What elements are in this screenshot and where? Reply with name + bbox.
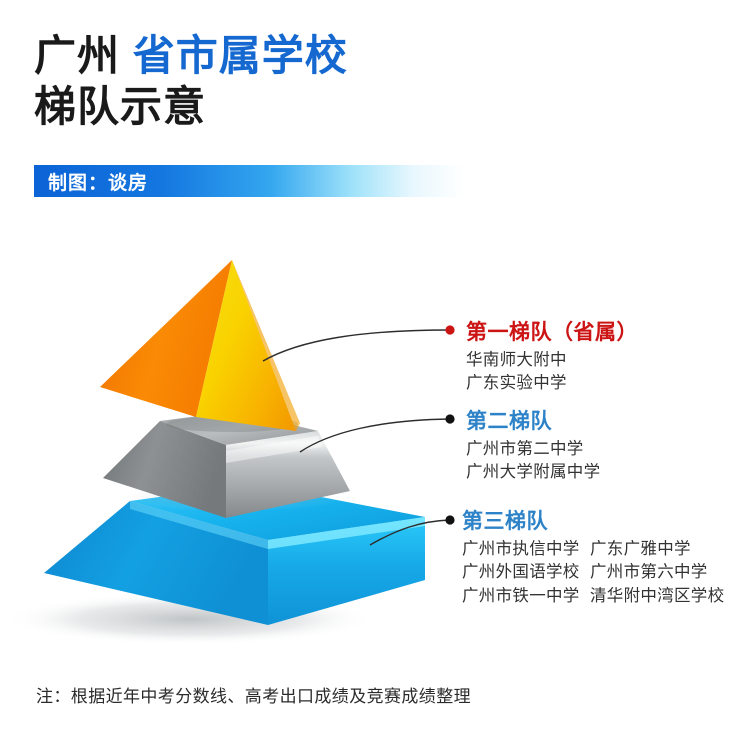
tier-school-3-1-a: 广州外国语学校 xyxy=(462,561,590,584)
tier-school-2-0: 广州市第二中学 xyxy=(466,438,600,461)
tier-heading-2: 第二梯队 xyxy=(466,405,600,435)
tier-school-1-0: 华南师大附中 xyxy=(466,349,638,372)
footnote: 注：根据近年中考分数线、高考出口成绩及竞赛成绩整理 xyxy=(36,682,471,707)
tier-block-1: 第一梯队（省属） 华南师大附中 广东实验中学 xyxy=(466,316,638,396)
tier-school-3-0-a: 广州市执信中学 xyxy=(462,538,590,561)
tier-school-3-2-b: 清华附中湾区学校 xyxy=(590,585,724,608)
credit-text: 制图：谈房 xyxy=(34,168,148,195)
tier-heading-1: 第一梯队（省属） xyxy=(466,316,638,346)
tier-school-row-3-0: 广州市执信中学 广东广雅中学 xyxy=(462,538,724,561)
page-title-highlight: 省市属学校 xyxy=(133,32,348,79)
tier-school-1-1: 广东实验中学 xyxy=(466,372,638,395)
tier-school-3-1-b: 广州市第六中学 xyxy=(590,561,708,584)
page-title-line-2: 梯队示意 xyxy=(34,81,634,132)
tier-heading-3: 第三梯队 xyxy=(462,505,724,535)
tier-school-row-3-2: 广州市铁一中学 清华附中湾区学校 xyxy=(462,585,724,608)
pyramid-graphic xyxy=(0,235,470,655)
tier-school-2-1: 广州大学附属中学 xyxy=(466,461,600,484)
tier-block-3: 第三梯队 广州市执信中学 广东广雅中学 广州外国语学校 广州市第六中学 广州市铁… xyxy=(462,505,724,608)
page-title-line-1: 广州 省市属学校 xyxy=(34,30,634,81)
tier-school-3-2-a: 广州市铁一中学 xyxy=(462,585,590,608)
page-header: 广州 省市属学校 梯队示意 xyxy=(34,30,634,132)
page-title-city: 广州 xyxy=(34,32,120,79)
credit-bar: 制图：谈房 xyxy=(34,165,464,197)
infographic-page: 广州 省市属学校 梯队示意 制图：谈房 xyxy=(0,0,740,739)
tier-block-2: 第二梯队 广州市第二中学 广州大学附属中学 xyxy=(466,405,600,485)
tier-school-3-0-b: 广东广雅中学 xyxy=(590,538,691,561)
tier-school-row-3-1: 广州外国语学校 广州市第六中学 xyxy=(462,561,724,584)
top-tier-orange-pyramid xyxy=(100,260,300,431)
